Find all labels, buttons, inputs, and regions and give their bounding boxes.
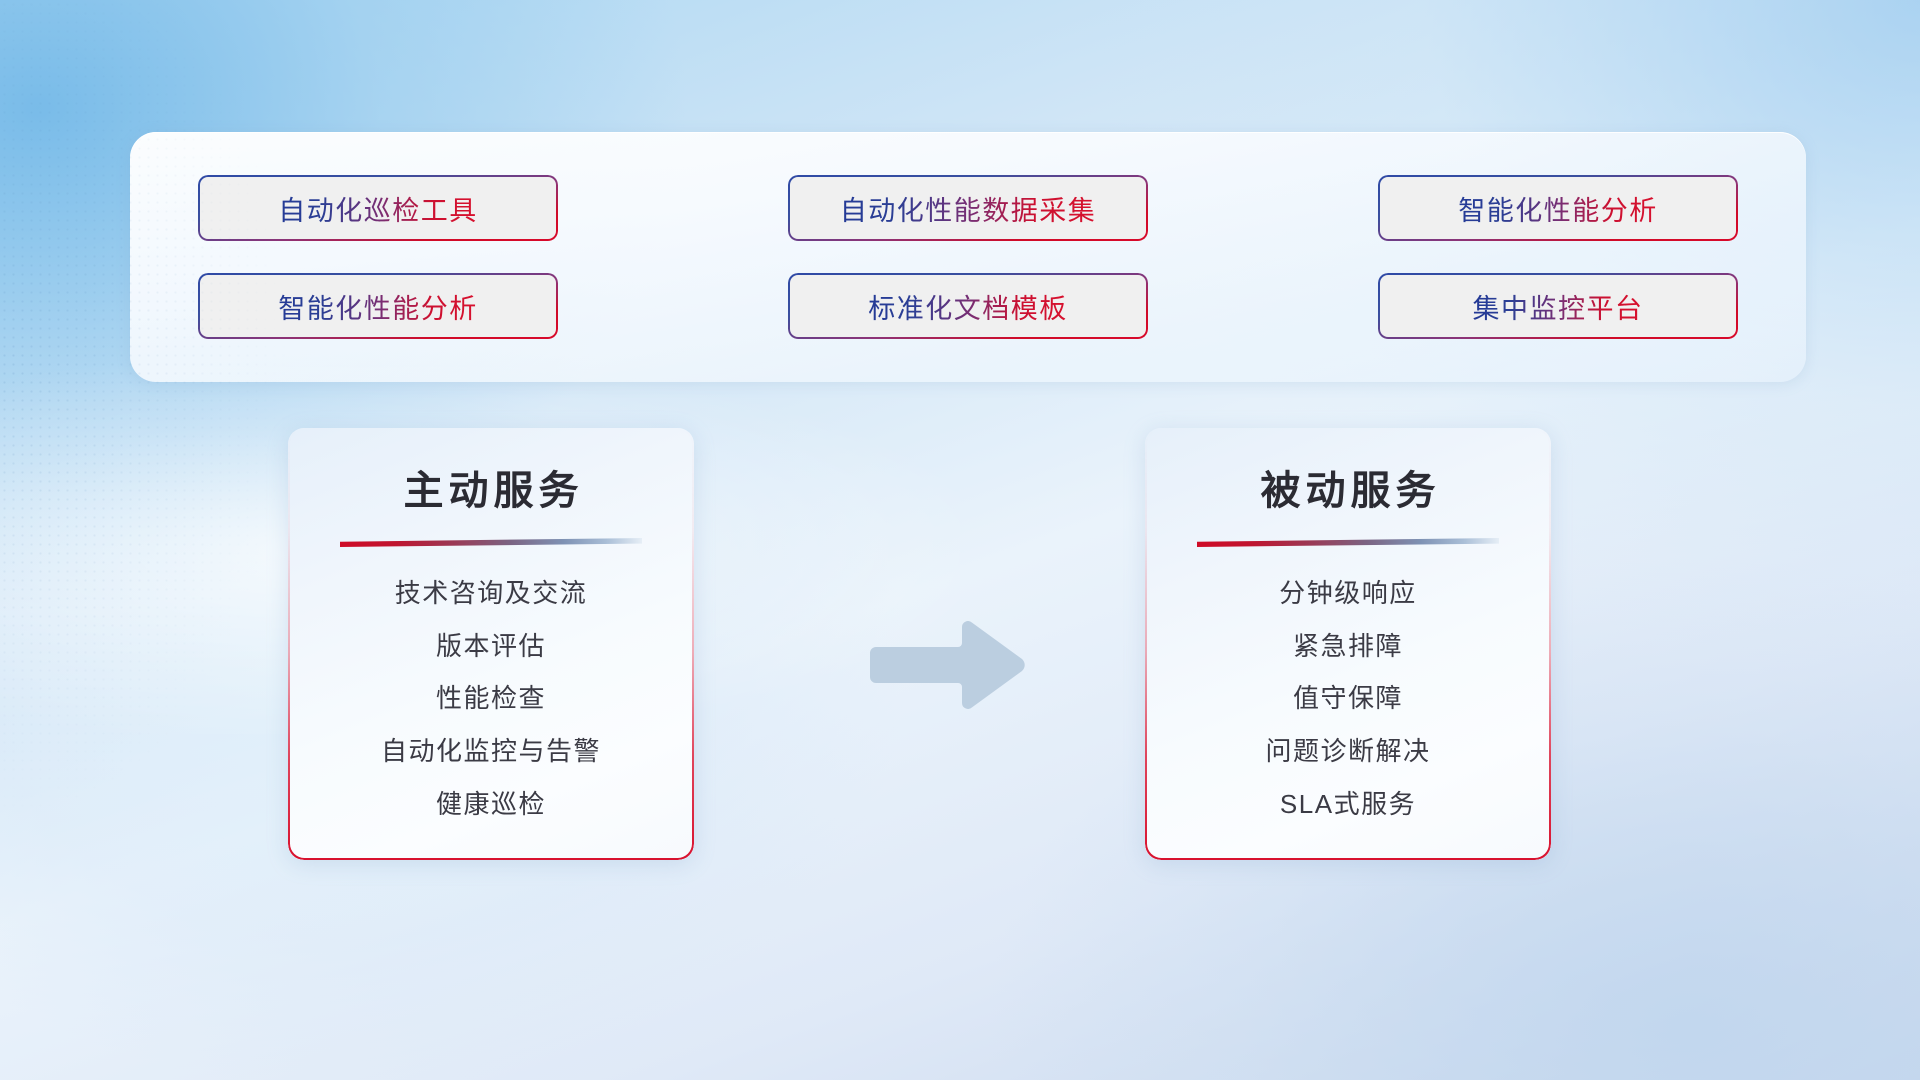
tag-label: 智能化性能分析 <box>278 287 478 326</box>
tag-auto-perf-data-collection[interactable]: 自动化性能数据采集 <box>788 175 1148 241</box>
arrow-right-icon <box>870 615 1030 715</box>
card-service-list: 技术咨询及交流 版本评估 性能检查 自动化监控与告警 健康巡检 <box>288 575 694 823</box>
list-item: 健康巡检 <box>436 786 546 824</box>
card-divider-gradient <box>340 538 642 547</box>
capability-tag-panel: 自动化巡检工具 自动化性能数据采集 智能化性能分析 智能化性能分析 标准化文档模… <box>130 132 1806 382</box>
tag-row-2: 智能化性能分析 标准化文档模板 集中监控平台 <box>198 273 1738 339</box>
card-reactive-service: 被动服务 分钟级响应 紧急排障 值守保障 问题诊断解决 SLA式服务 <box>1145 428 1551 860</box>
list-item: 技术咨询及交流 <box>395 575 588 613</box>
tag-label: 自动化巡检工具 <box>278 189 478 228</box>
tag-row-1: 自动化巡检工具 自动化性能数据采集 智能化性能分析 <box>198 175 1738 241</box>
tag-label: 标准化文档模板 <box>868 287 1068 326</box>
list-item: 紧急排障 <box>1293 628 1403 666</box>
tag-label: 自动化性能数据采集 <box>840 189 1097 228</box>
tag-intelligent-perf-analysis[interactable]: 智能化性能分析 <box>1378 175 1738 241</box>
tag-central-monitoring-platform[interactable]: 集中监控平台 <box>1378 273 1738 339</box>
list-item: 版本评估 <box>436 628 546 666</box>
tag-auto-inspection-tool[interactable]: 自动化巡检工具 <box>198 175 558 241</box>
list-item: SLA式服务 <box>1280 786 1416 824</box>
card-title: 被动服务 <box>1256 458 1441 516</box>
list-item: 问题诊断解决 <box>1265 733 1430 771</box>
diagram-canvas: 自动化巡检工具 自动化性能数据采集 智能化性能分析 智能化性能分析 标准化文档模… <box>0 0 1920 1080</box>
list-item: 值守保障 <box>1293 680 1403 718</box>
tag-label: 集中监控平台 <box>1473 287 1644 326</box>
tag-standard-doc-template[interactable]: 标准化文档模板 <box>788 273 1148 339</box>
tag-intelligent-perf-analysis-2[interactable]: 智能化性能分析 <box>198 273 558 339</box>
card-divider-gradient <box>1197 538 1499 547</box>
card-title: 主动服务 <box>399 458 584 516</box>
list-item: 性能检查 <box>436 680 546 718</box>
list-item: 自动化监控与告警 <box>381 733 601 771</box>
card-service-list: 分钟级响应 紧急排障 值守保障 问题诊断解决 SLA式服务 <box>1145 575 1551 823</box>
tag-label: 智能化性能分析 <box>1458 189 1658 228</box>
list-item: 分钟级响应 <box>1279 575 1417 613</box>
card-proactive-service: 主动服务 技术咨询及交流 版本评估 性能检查 自动化监控与告警 健康巡检 <box>288 428 694 860</box>
